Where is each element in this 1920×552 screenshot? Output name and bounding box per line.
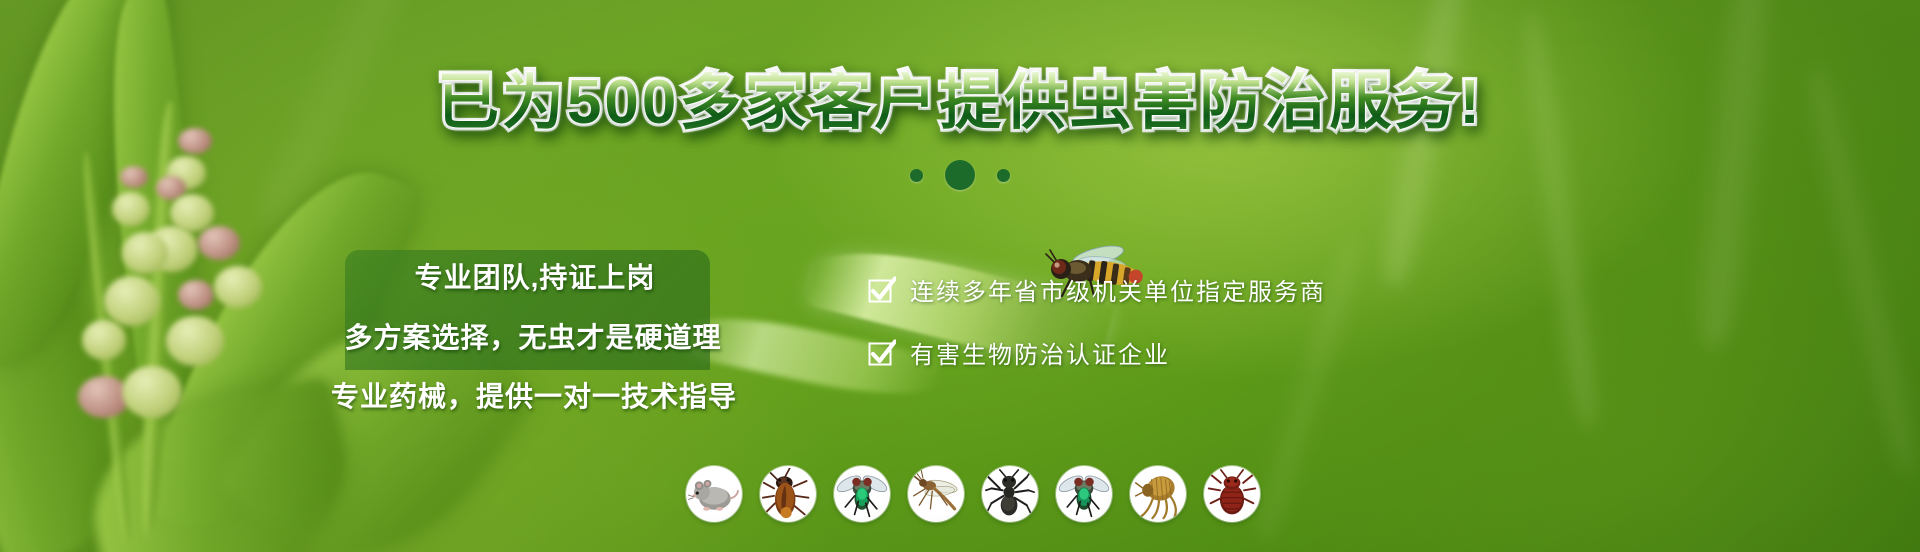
checkbox-checked-icon bbox=[868, 276, 896, 304]
pest-control-banner: 已为500多家客户提供虫害防治服务! 已为500多家客户提供虫害防治服务! 专业… bbox=[0, 0, 1920, 552]
dot-small-right bbox=[997, 169, 1010, 182]
bedbug-icon[interactable] bbox=[1204, 466, 1260, 522]
flower-bud bbox=[104, 276, 160, 326]
cockroach-icon[interactable] bbox=[760, 466, 816, 522]
mouse-icon[interactable] bbox=[686, 466, 742, 522]
page-title: 已为500多家客户提供虫害防治服务! bbox=[0, 72, 1920, 134]
flower-bud bbox=[198, 226, 240, 260]
flower-bud bbox=[166, 316, 224, 366]
decorative-dots bbox=[0, 160, 1920, 190]
bullet-label: 有害生物防治认证企业 bbox=[910, 335, 1170, 370]
list-item: 连续多年省市级机关单位指定服务商 bbox=[868, 272, 1326, 307]
bullet-label: 连续多年省市级机关单位指定服务商 bbox=[910, 272, 1326, 307]
feature-line-1: 专业团队,持证上岗 bbox=[345, 256, 725, 296]
flower-bud bbox=[214, 266, 262, 308]
flower-bud bbox=[82, 320, 126, 360]
dot-small-left bbox=[910, 169, 923, 182]
feature-line-2: 多方案选择，无虫才是硬道理 bbox=[341, 316, 725, 356]
flower-bud bbox=[122, 366, 182, 418]
pest-icon-row bbox=[686, 466, 1260, 522]
dot-large-center bbox=[945, 160, 975, 190]
ant-icon[interactable] bbox=[982, 466, 1038, 522]
checkbox-checked-icon bbox=[868, 339, 896, 367]
flower-bud bbox=[122, 232, 168, 274]
blowfly-icon[interactable] bbox=[1056, 466, 1112, 522]
flower-bud bbox=[112, 192, 150, 226]
list-item: 有害生物防治认证企业 bbox=[868, 335, 1326, 370]
feature-text-group: 专业团队,持证上岗 多方案选择，无虫才是硬道理 专业药械，提供一对一技术指导 bbox=[345, 250, 725, 415]
feature-line-3: 专业药械，提供一对一技术指导 bbox=[331, 375, 725, 415]
housefly-icon[interactable] bbox=[834, 466, 890, 522]
flower-bud bbox=[178, 280, 214, 310]
mosquito-icon[interactable] bbox=[908, 466, 964, 522]
flea-icon[interactable] bbox=[1130, 466, 1186, 522]
credential-bullet-list: 连续多年省市级机关单位指定服务商 有害生物防治认证企业 bbox=[868, 272, 1326, 398]
